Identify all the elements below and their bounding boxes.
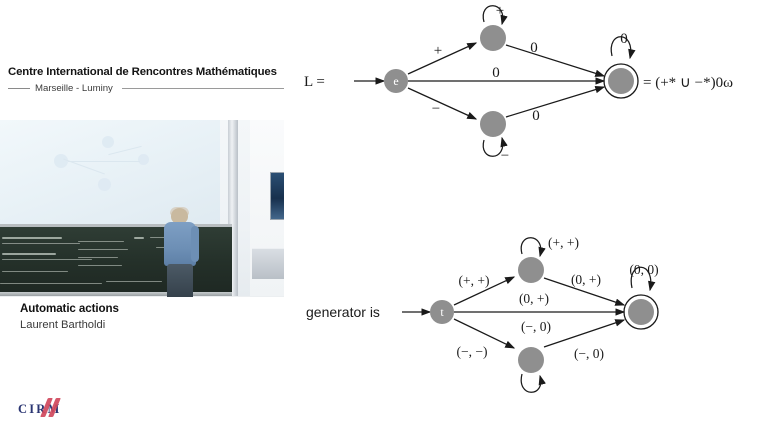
label-loop-minus: − <box>501 148 509 164</box>
label-middle-lower: (−, 0) <box>521 319 551 334</box>
label-loop-final-2: (0, 0) <box>629 262 658 277</box>
label-e-minus: − <box>432 101 440 117</box>
slide: Centre International de Rencontres Mathé… <box>0 0 760 427</box>
state-final-2[interactable] <box>628 299 654 325</box>
label-loop-pp: (+, +) <box>548 235 579 250</box>
loop-mm <box>521 374 541 392</box>
cirm-logo: CIRM <box>18 398 128 422</box>
state-e-label: e <box>393 74 398 88</box>
edge-e-to-minus <box>408 88 476 119</box>
divider-right <box>122 88 284 89</box>
label-e-plus: + <box>434 43 442 59</box>
state-final[interactable] <box>608 68 634 94</box>
label-t-mm: (−, −) <box>457 344 488 359</box>
institution-location: Marseille - Luminy <box>35 83 113 94</box>
label-t-pp: (+, +) <box>459 273 490 288</box>
state-plus[interactable] <box>480 25 506 51</box>
label-t-final: (0, +) <box>519 291 549 306</box>
automaton-2: generator is t (+, +) (+, +) (0, +) (0, … <box>286 232 760 412</box>
automaton-2-prefix: generator is <box>306 304 380 320</box>
talk-title: Automatic actions <box>20 302 119 315</box>
edge-plus-to-final <box>506 45 604 76</box>
label-loop-plus: + <box>496 3 504 19</box>
state-pp[interactable] <box>518 257 544 283</box>
automaton-1-prefix: L = <box>304 74 325 90</box>
label-loop-final: 0 <box>620 31 628 47</box>
state-minus[interactable] <box>480 111 506 137</box>
wall-monitor <box>270 172 284 220</box>
edge-minus-to-final <box>506 87 604 117</box>
far-desk <box>252 248 284 279</box>
automaton-1: L = e + + 0 0 − 0 <box>286 0 760 180</box>
institution-title: Centre International de Rencontres Mathé… <box>8 66 284 78</box>
label-e-final: 0 <box>492 65 500 81</box>
label-minus-final: 0 <box>532 108 540 124</box>
talk-author: Laurent Bartholdi <box>20 319 119 331</box>
lecture-video-still[interactable] <box>0 120 284 297</box>
state-mm[interactable] <box>518 347 544 373</box>
divider-left <box>8 88 30 89</box>
slide-content: L = e + + 0 0 − 0 <box>286 0 760 427</box>
label-mm-final: (−, 0) <box>574 346 604 361</box>
floor <box>0 296 284 297</box>
cirm-branding: Centre International de Rencontres Mathé… <box>8 66 284 94</box>
edge-mm-to-final <box>544 320 624 347</box>
loop-pp <box>521 238 541 256</box>
automaton-1-suffix: = (+* ∪ −*)0ω <box>643 75 733 91</box>
institution-subtitle-row: Marseille - Luminy <box>8 83 284 94</box>
label-plus-final: 0 <box>530 40 538 56</box>
speaker-figure <box>160 208 200 297</box>
talk-info: Automatic actions Laurent Bartholdi <box>20 302 119 331</box>
label-pp-final: (0, +) <box>571 272 601 287</box>
